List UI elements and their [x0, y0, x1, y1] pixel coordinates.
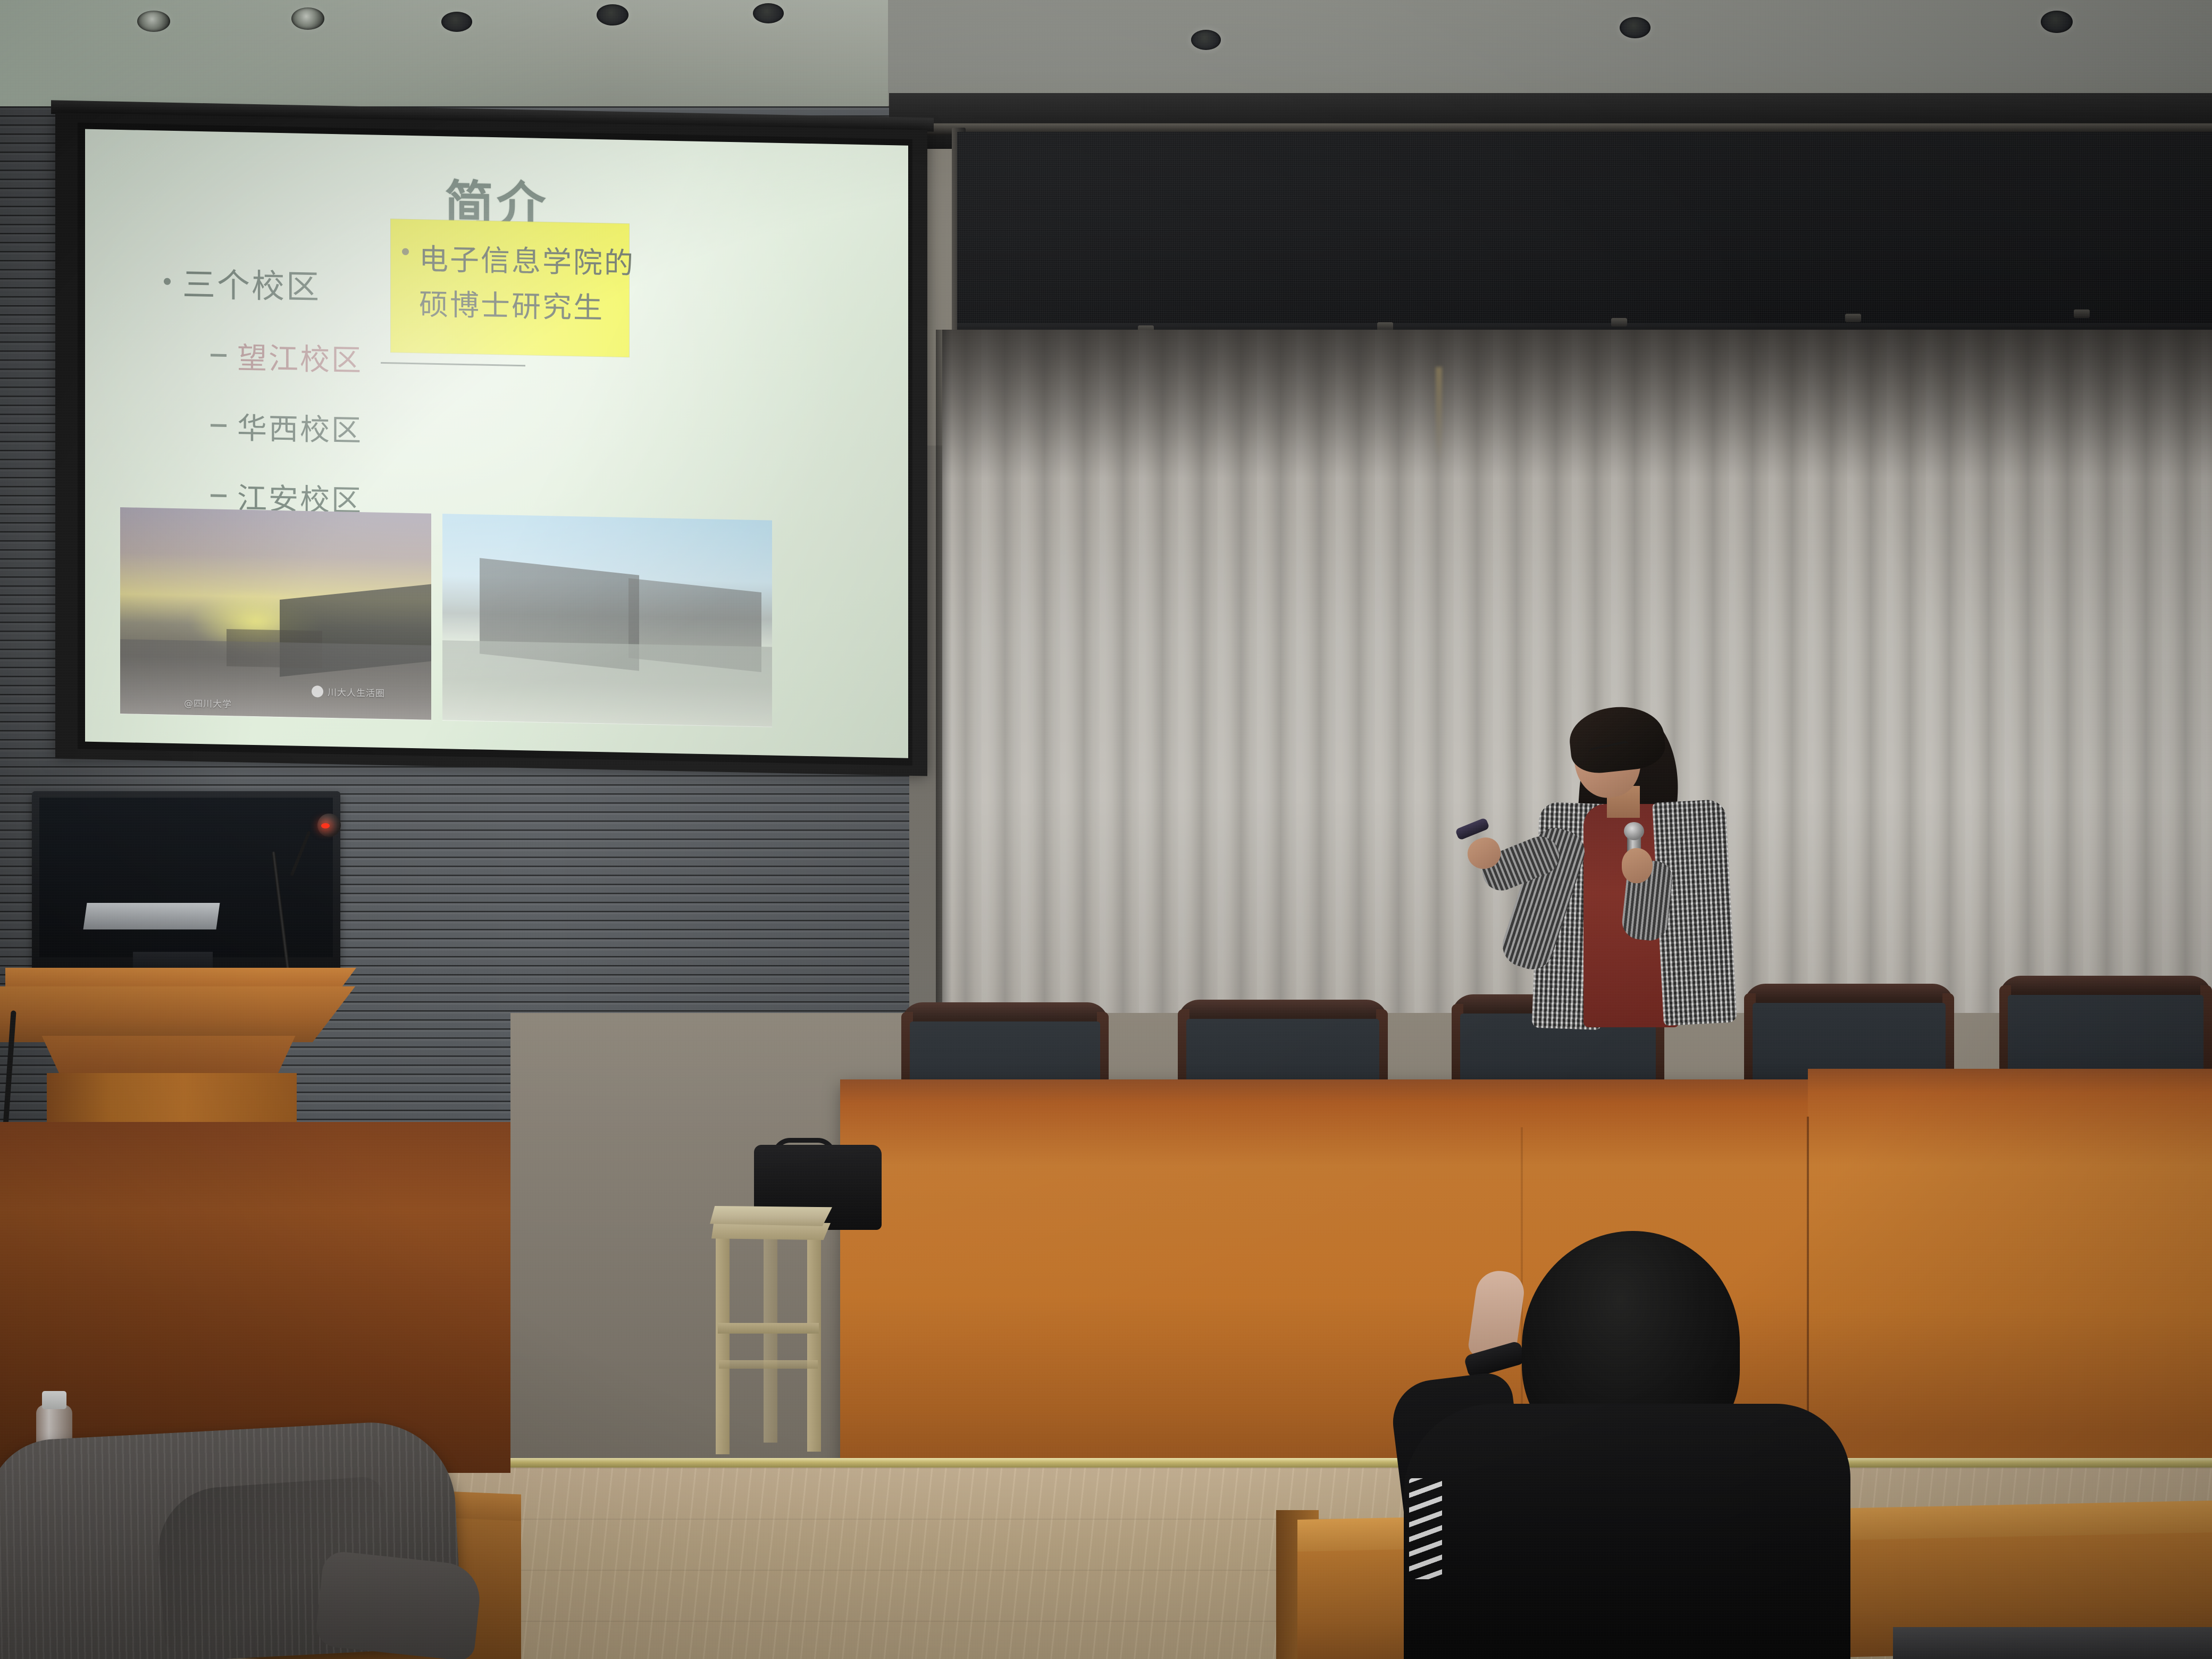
ceiling-downlight: [597, 4, 629, 26]
curtain-left-edge: [936, 330, 952, 1016]
slide-sub-bullet-label: 望江校区: [237, 334, 363, 380]
callout-bullet-dot-icon: [402, 248, 409, 255]
podium-slab: [0, 986, 355, 1042]
slide-sub-bullet-wangjiang: 望江校区: [211, 333, 363, 380]
callout-connector-line: [381, 362, 525, 366]
callout-line-1: 电子信息学院的: [419, 237, 642, 287]
lecture-hall-photo: 简介 三个校区 望江校区 华西校区 江安校区 电子信息学院的: [0, 0, 2212, 1659]
slide-sub-bullet-huaxi: 华西校区: [211, 404, 363, 450]
monitor-screen: [39, 798, 333, 957]
stool-cross-rail: [718, 1323, 819, 1334]
front-bench-left-back: [0, 1122, 510, 1473]
audience-hoodie: [1404, 1404, 1850, 1659]
hoodie-sleeve-graphic: [1409, 1478, 1442, 1579]
water-reflection: [442, 640, 772, 726]
roller-blind[interactable]: [957, 132, 2212, 330]
far-right-seat: [1893, 1627, 2212, 1659]
slide-photo-campus-riverside: @四川大学 川大人生活圈: [120, 507, 431, 720]
slide-photo-campus-building: [442, 514, 772, 726]
slide-sub-bullet-label: 华西校区: [237, 404, 363, 450]
ceiling-downlight: [291, 7, 324, 30]
microphone-head-icon: [1624, 822, 1644, 840]
presenter-right-hand: [1622, 848, 1653, 883]
ceiling-downlight: [753, 3, 784, 23]
watermark-logo-icon: [312, 685, 323, 697]
slide-bullet-main: 三个校区: [164, 257, 321, 308]
bottle-cap: [42, 1391, 66, 1409]
keyboard[interactable]: [83, 903, 220, 929]
curtain-top-shadow: [942, 330, 2212, 479]
dash-icon: [211, 354, 227, 357]
podium-neck: [28, 1036, 309, 1078]
stool-cross-rail: [719, 1360, 818, 1369]
dash-icon: [211, 494, 227, 497]
photo-watermark: @四川大学: [184, 696, 232, 710]
callout-line-2: 硕博士研究生: [419, 282, 642, 332]
stool-leg: [807, 1239, 821, 1452]
blind-clip: [1611, 318, 1627, 326]
mic-power-led-icon: [321, 823, 330, 828]
water-reflection: [120, 639, 431, 720]
slide-callout-text: 电子信息学院的 硕博士研究生: [419, 237, 642, 332]
photo-watermark: 川大人生活圈: [328, 685, 385, 699]
bullet-dot-icon: [164, 278, 171, 284]
blind-clip: [2074, 309, 2090, 318]
dash-icon: [211, 424, 227, 427]
photo-watermark-logo-group: 川大人生活圈: [312, 684, 385, 699]
ceiling-downlight: [2041, 11, 2073, 33]
ceiling-downlight: [441, 12, 472, 32]
podium-monitor[interactable]: [32, 791, 340, 975]
stool-leg: [716, 1234, 730, 1454]
slide-bullet-main-label: 三个校区: [182, 257, 321, 308]
projection-screen-frame: 简介 三个校区 望江校区 华西校区 江安校区 电子信息学院的: [55, 113, 927, 776]
projection-screen-surface: 简介 三个校区 望江校区 华西校区 江安校区 电子信息学院的: [85, 129, 908, 758]
ceiling-downlight: [137, 11, 170, 32]
ceiling-downlight: [1191, 30, 1221, 50]
ceiling-downlight: [1620, 17, 1650, 38]
stool-leg: [764, 1233, 777, 1443]
conference-table-right-front: [1808, 1069, 2212, 1473]
stool-seat[interactable]: [710, 1206, 832, 1226]
curtain-stain: [1436, 367, 1442, 463]
jacket-sleeve: [314, 1550, 483, 1659]
blind-clip: [1845, 314, 1861, 322]
